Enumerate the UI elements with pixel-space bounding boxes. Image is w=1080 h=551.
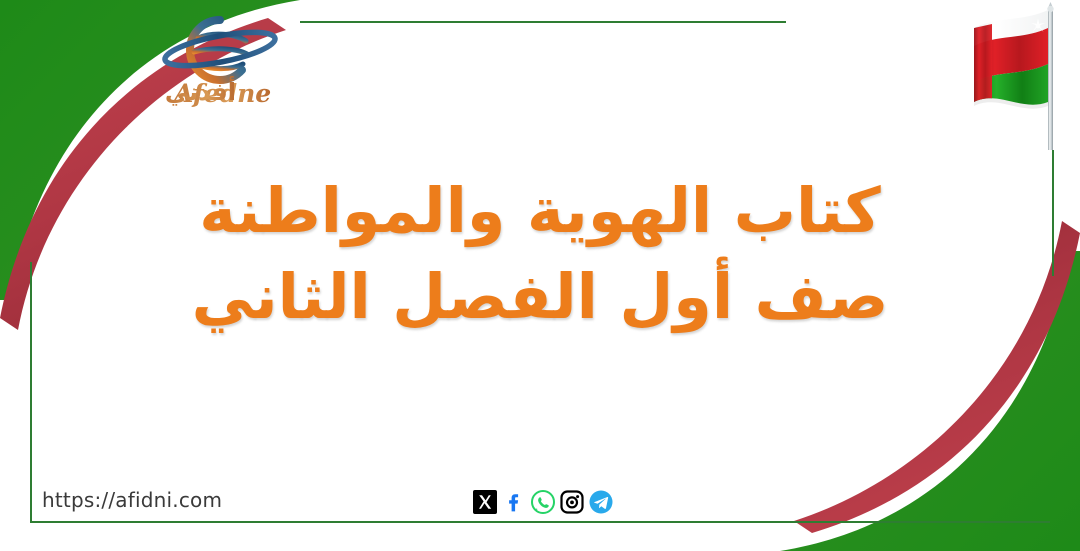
oman-flag [952,2,1072,152]
facebook-icon[interactable] [501,489,527,515]
social-links [472,489,614,515]
title-line-2: صف أول الفصل الثاني [0,254,1080,340]
whatsapp-icon[interactable] [530,489,556,515]
flag-pole [1048,8,1053,150]
instagram-icon[interactable] [559,489,585,515]
telegram-icon[interactable] [588,489,614,515]
title-line-1: كتاب الهوية والمواطنة [0,168,1080,254]
globe-ring-icon: Afedne أفدني [150,8,290,112]
poster-canvas: Afedne أفدني [0,0,1080,551]
frame-rule-bottom [30,521,1050,523]
site-url[interactable]: https://afidni.com [42,488,222,512]
logo-arabic-wordmark: أفدني [165,76,236,106]
page-title: كتاب الهوية والمواطنة صف أول الفصل الثان… [0,168,1080,340]
afedne-logo[interactable]: Afedne أفدني [150,8,290,112]
frame-rule-top [300,21,786,23]
x-twitter-icon[interactable] [472,489,498,515]
